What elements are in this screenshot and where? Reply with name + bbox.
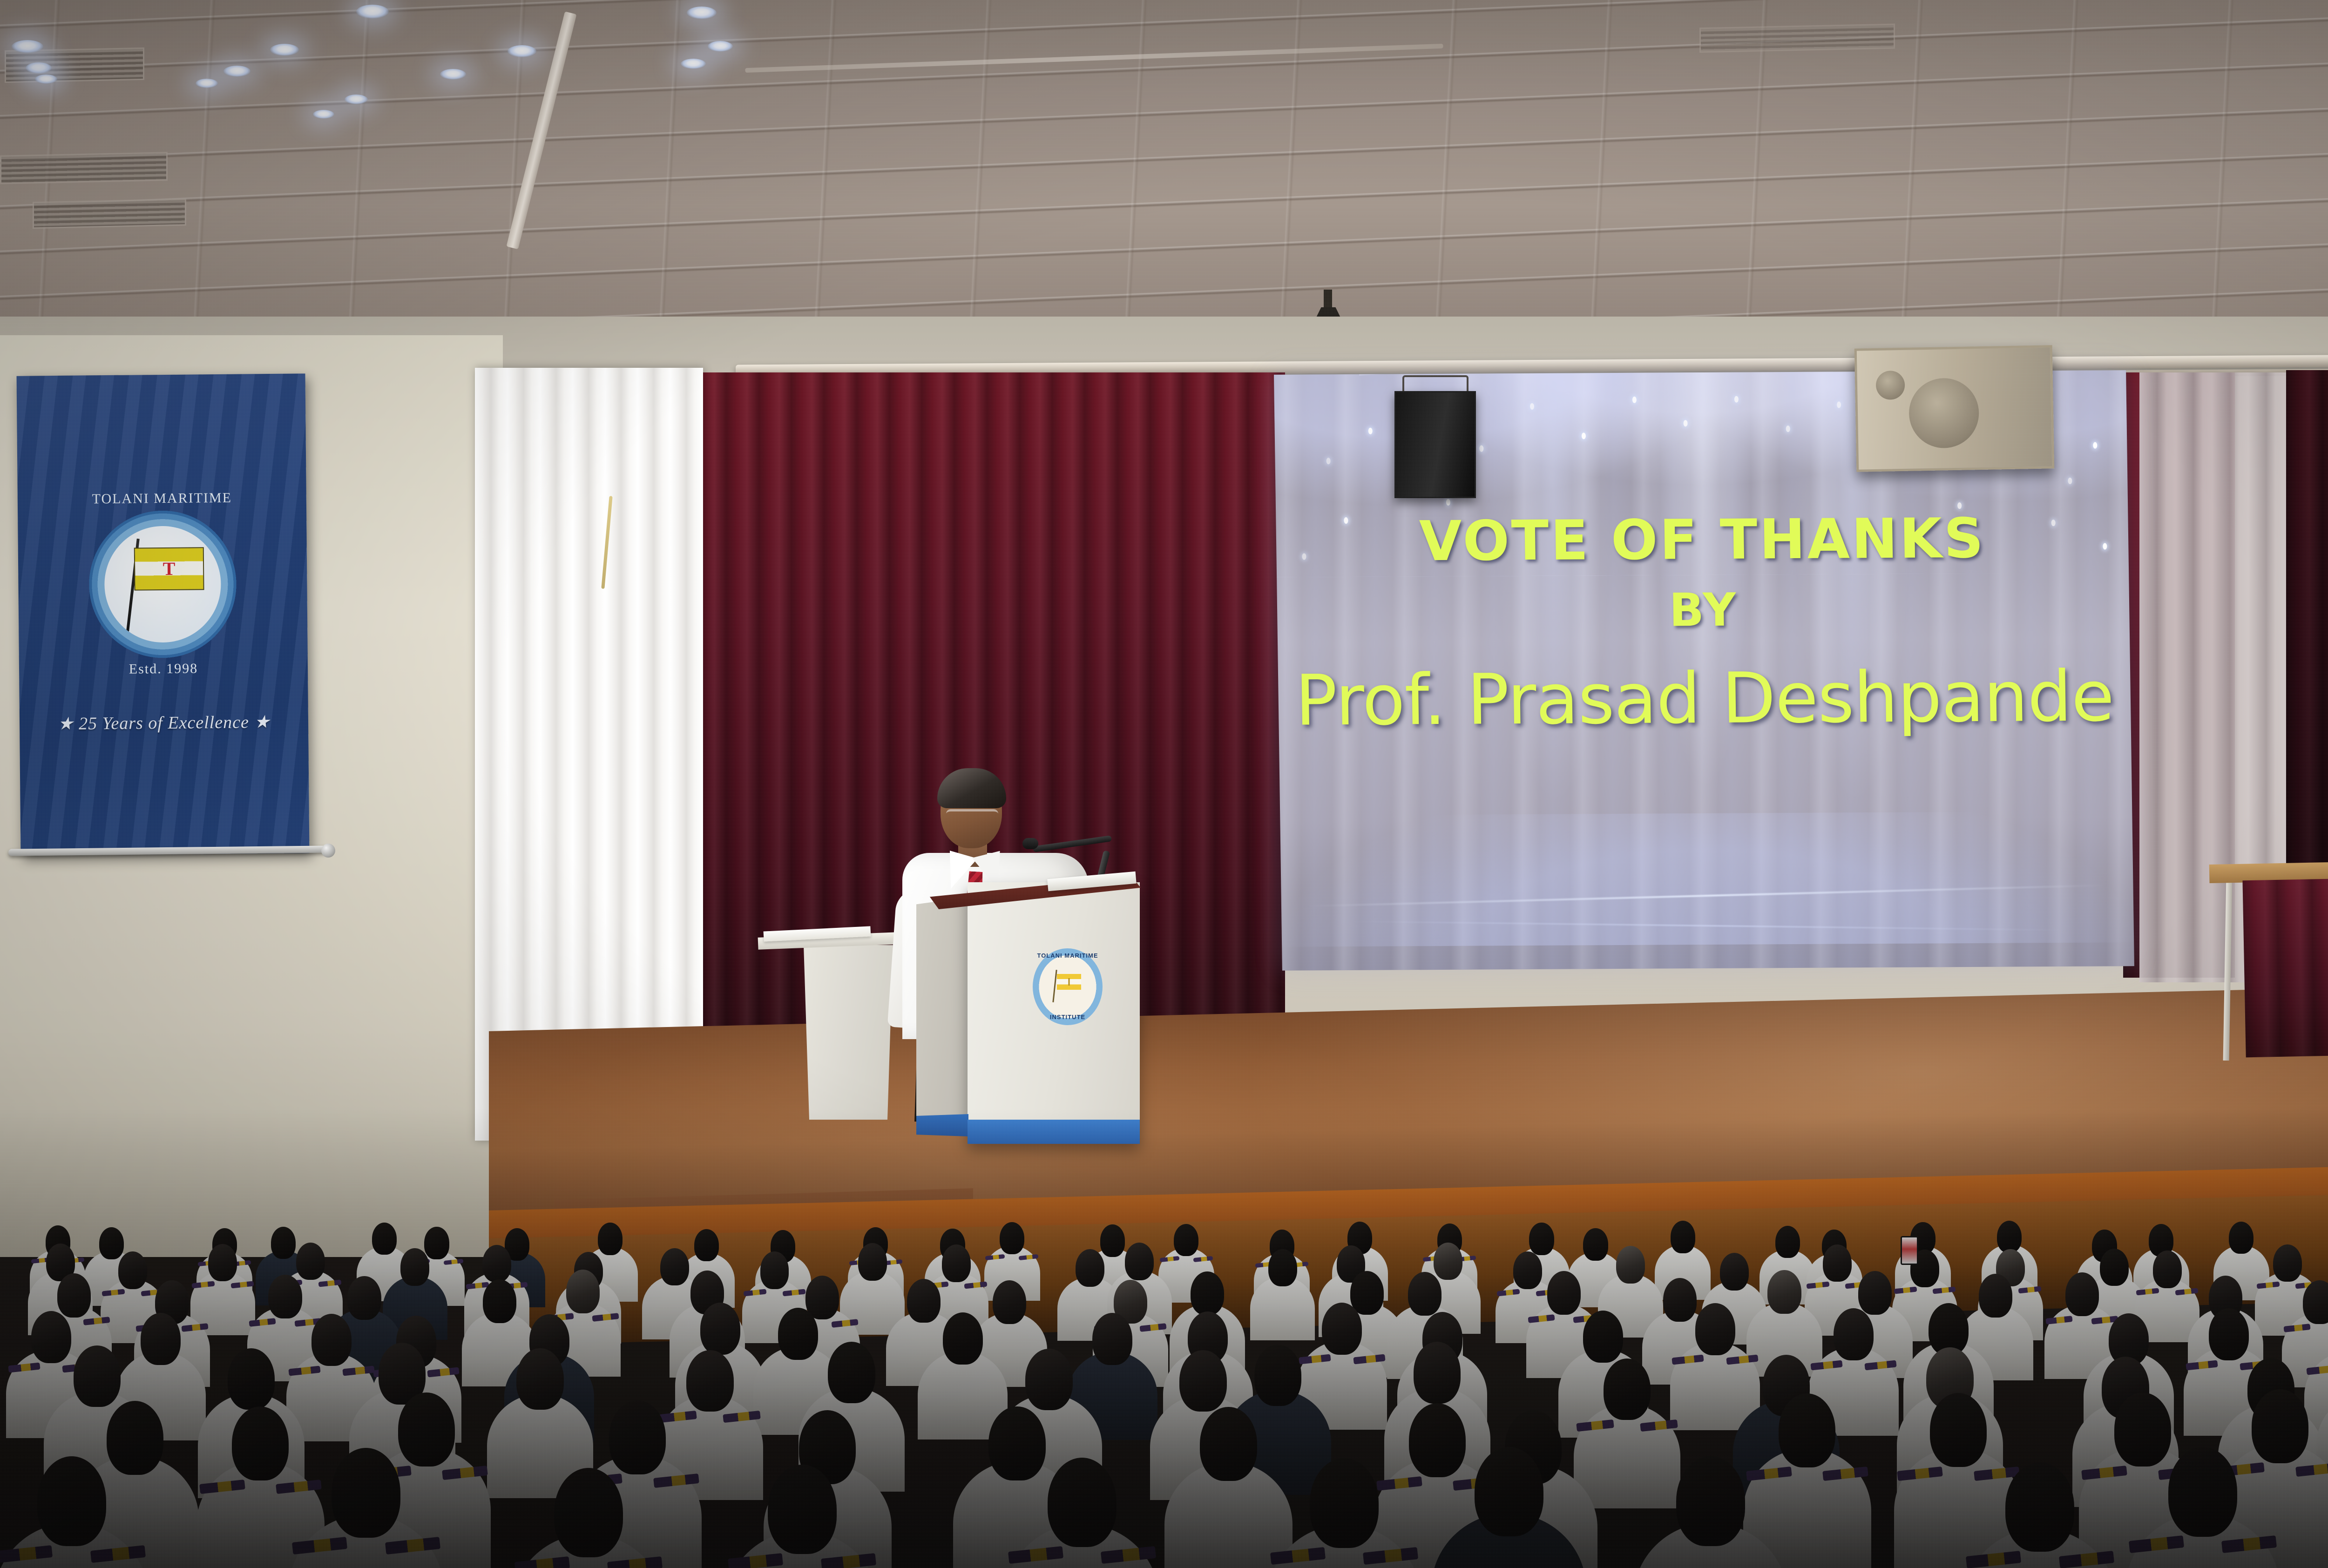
audience-member-head <box>1671 1221 1695 1253</box>
institute-banner: T TOLANI MARITIME Estd. 1998 ★ 25 Years … <box>17 373 310 855</box>
crest-arc-bottom-text: Estd. 1998 <box>63 660 264 678</box>
audience-member-head <box>1695 1303 1735 1355</box>
ceiling-downlight <box>345 95 368 104</box>
ceiling-downlight <box>223 66 250 77</box>
ac-vent-5 <box>1699 24 1895 53</box>
audience-member-head <box>1583 1311 1623 1363</box>
audience-member-head <box>208 1244 237 1282</box>
audience-member-head <box>1408 1272 1441 1316</box>
audience-member-head <box>2153 1250 2182 1288</box>
podium-side-panel <box>916 897 968 1135</box>
audience-member-head <box>2273 1244 2302 1282</box>
ac-vent-3 <box>33 199 186 229</box>
audience-member-head <box>516 1348 563 1410</box>
audience-member-head <box>400 1248 429 1286</box>
audience-member-head <box>1676 1456 1745 1546</box>
audience-member-head <box>942 1244 971 1282</box>
audience-member-head <box>1979 1274 2012 1318</box>
podium-logo-arc-bottom: INSTITUTE <box>1033 1014 1103 1021</box>
speaker-tweeter-cone <box>1876 371 1905 400</box>
audience-member-head <box>141 1313 181 1365</box>
audience-member-head <box>1663 1278 1697 1322</box>
audience-member-head <box>1775 1226 1800 1258</box>
audience-member-head <box>1604 1358 1651 1420</box>
audience-member-head <box>988 1406 1045 1480</box>
microphone-head-icon <box>1022 838 1038 849</box>
audience-member-head <box>1174 1224 1198 1256</box>
audience-member-head <box>760 1251 789 1289</box>
ceiling-downlight <box>196 79 218 88</box>
ac-vent-2 <box>0 152 168 184</box>
ceiling-downlight <box>270 44 299 56</box>
audience-member-head <box>483 1279 516 1323</box>
wall-speaker-black-left <box>1394 391 1476 498</box>
audience-member-head <box>1720 1253 1749 1291</box>
audience-member-head <box>2005 1462 2074 1552</box>
audience-member-head <box>694 1229 719 1261</box>
audience-member-head <box>554 1468 623 1558</box>
audience-member-head <box>37 1456 106 1546</box>
audience-member-head <box>1434 1243 1462 1280</box>
podium-logo-flag <box>1057 974 1081 990</box>
audience-member-head <box>99 1227 124 1259</box>
audience-member-head <box>228 1348 275 1410</box>
audience-member-head <box>1823 1244 1852 1282</box>
audience-member-head <box>2229 1222 2254 1254</box>
audience-member-head <box>1350 1271 1384 1315</box>
audience-member-head <box>372 1223 397 1255</box>
audience-member-head <box>1513 1251 1542 1289</box>
audience-member-head <box>232 1406 289 1480</box>
audience-member-head <box>118 1251 147 1289</box>
audience-member-head <box>1616 1246 1645 1284</box>
audience-member-head <box>424 1227 449 1259</box>
audience-member-head <box>805 1276 839 1319</box>
audience-member-head <box>828 1342 875 1403</box>
audience-member-head <box>296 1243 325 1280</box>
audience-member-head <box>1409 1403 1466 1477</box>
audience-member-head <box>2065 1272 2099 1316</box>
audience-member-head <box>1529 1223 1554 1255</box>
crest-flag: T <box>134 547 204 590</box>
speaker-woofer-cone <box>1908 378 1980 449</box>
audience-member-head <box>31 1311 71 1363</box>
audience-member-head <box>268 1275 302 1318</box>
audience-member-head <box>1092 1313 1132 1365</box>
audience-member-head <box>1076 1249 1104 1287</box>
audience-member-head <box>1025 1349 1072 1410</box>
ceiling-downlight <box>708 41 733 52</box>
audience-member-head <box>1583 1228 1608 1260</box>
audience-member-head <box>778 1308 818 1360</box>
audience-member-head <box>1254 1345 1301 1406</box>
audience-member-head <box>74 1345 121 1407</box>
speaker-glasses-icon <box>946 809 998 818</box>
audience-member-head <box>1322 1303 1362 1355</box>
audience-member-head <box>271 1227 296 1259</box>
audience-member-head <box>993 1280 1026 1324</box>
audience-member-head <box>1200 1407 1257 1481</box>
institute-crest: T TOLANI MARITIME Estd. 1998 <box>62 483 264 685</box>
crest-inner-disc: T <box>104 526 221 643</box>
audience-member-head <box>482 1245 511 1283</box>
audience-member-head <box>660 1248 689 1286</box>
audience-member-head <box>1779 1393 1835 1467</box>
audience-member-head <box>1310 1458 1379 1548</box>
auditorium-scene: T TOLANI MARITIME Estd. 1998 ★ 25 Years … <box>0 0 2328 1568</box>
podium-institute-logo: TOLANI MARITIME INSTITUTE <box>1033 948 1103 1025</box>
audience-member-head <box>2100 1249 2129 1286</box>
audience <box>0 1108 2328 1568</box>
podium-logo-flag-letter <box>1069 978 1070 986</box>
audience-member-head <box>1930 1393 1987 1467</box>
slide-line-3: Prof. Prasad Deshpande <box>1295 662 2114 736</box>
curtain-white-panel <box>475 368 703 1141</box>
audience-member-head <box>566 1270 600 1313</box>
podium-front-panel: TOLANI MARITIME INSTITUTE <box>968 882 1140 1143</box>
crest-flag-letter: T <box>163 560 176 578</box>
ceiling-downlight <box>440 69 466 80</box>
audience-member-head <box>347 1276 381 1320</box>
ceiling-downlight <box>508 45 536 57</box>
projector-mount-stem-left <box>1324 290 1332 310</box>
podium-logo-arc-top: TOLANI MARITIME <box>1033 952 1103 959</box>
audience-phone-recording <box>1901 1236 1918 1265</box>
uniform-epaulette <box>728 1553 783 1568</box>
ceiling-downlight <box>12 40 43 53</box>
audience-member-head <box>1191 1271 1224 1315</box>
audience-member-head <box>107 1401 163 1475</box>
audience-member-head <box>1000 1222 1024 1254</box>
audience-member-head <box>1547 1271 1581 1315</box>
slide-line-1: VOTE OF THANKS <box>1419 511 1985 568</box>
audience-member-head <box>311 1314 352 1366</box>
audience-member-head <box>1179 1350 1226 1412</box>
audience-member-head <box>398 1392 455 1467</box>
audience-member-head <box>1834 1308 1874 1360</box>
audience-member-head <box>1997 1221 2022 1253</box>
audience-member-head <box>1767 1270 1801 1314</box>
ceiling-downlight <box>35 74 57 84</box>
ceiling-downlight <box>681 59 706 69</box>
audience-member-head <box>700 1303 740 1355</box>
audience-member-head <box>1268 1249 1297 1287</box>
ceiling-downlight <box>356 5 389 19</box>
banner-tagline: ★ 25 Years of Excellence ★ <box>20 711 308 734</box>
wall-speaker-beige-center <box>1854 345 2055 472</box>
ceiling-downlight <box>313 110 334 119</box>
audience-member-head <box>1125 1243 1154 1280</box>
stage-table-skirt <box>2242 870 2328 1058</box>
audience-member-head <box>57 1273 91 1317</box>
audience-member-head <box>609 1400 666 1474</box>
ceiling-downlight <box>26 62 52 74</box>
audience-member-head <box>1858 1271 1892 1315</box>
audience-member-head <box>2252 1389 2308 1463</box>
crest-arc-top-text: TOLANI MARITIME <box>62 490 262 507</box>
audience-member-head <box>858 1243 887 1281</box>
podium: TOLANI MARITIME INSTITUTE <box>916 868 1140 1143</box>
banner-rod-knob <box>321 844 335 858</box>
audience-member-head <box>907 1279 941 1323</box>
audience-member-head <box>598 1223 623 1255</box>
audience-member-head <box>1475 1447 1543 1537</box>
audience-member-head <box>686 1350 733 1412</box>
audience-member-head <box>332 1448 400 1538</box>
slide-line-2: BY <box>1669 588 1738 634</box>
audience-member-head <box>2168 1447 2237 1537</box>
audience-member-head <box>1414 1342 1461 1403</box>
audience-member-head <box>2209 1308 2249 1360</box>
audience-member-head <box>943 1312 983 1365</box>
audience-member-head <box>2114 1392 2171 1467</box>
speaker-hair <box>937 768 1006 808</box>
audience-member-head <box>1100 1224 1125 1257</box>
ceiling-downlight <box>687 7 717 19</box>
audience-member-head <box>768 1465 837 1554</box>
audience-member-head <box>1048 1458 1117 1548</box>
